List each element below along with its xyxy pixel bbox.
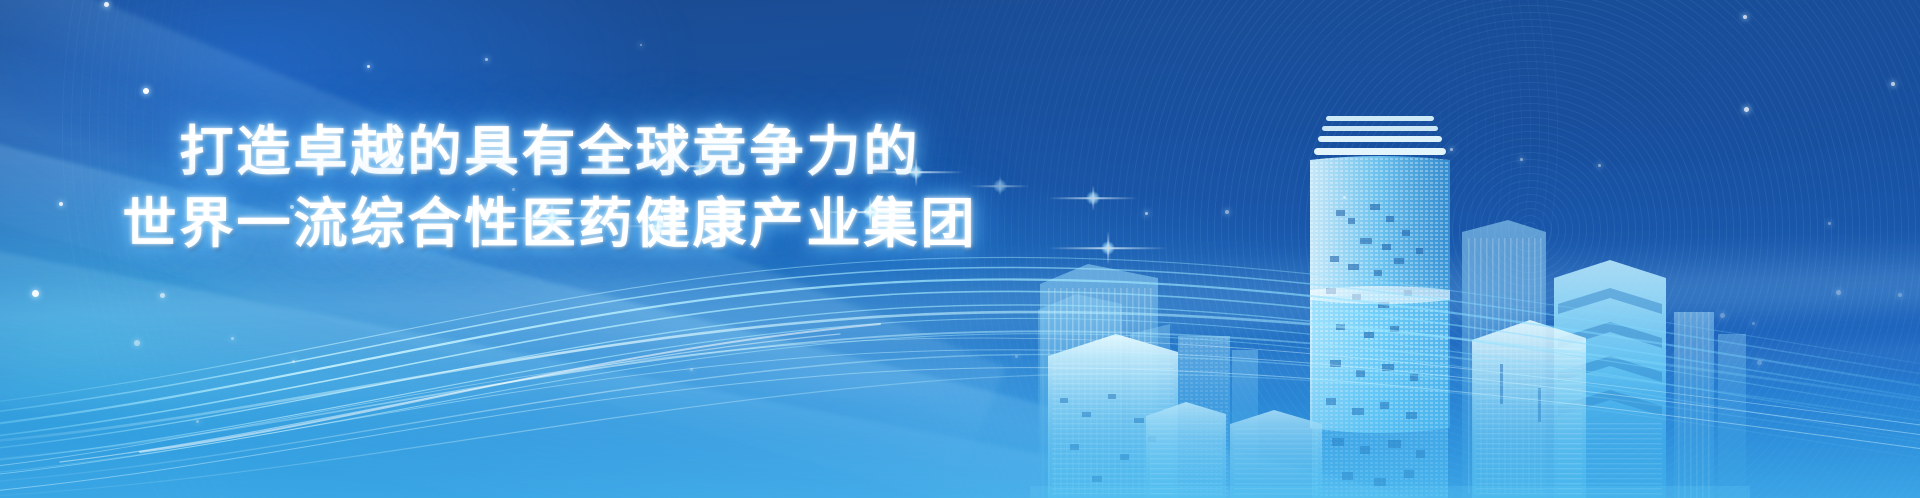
headline-line-2: 世界一流综合性医药健康产业集团	[0, 190, 1100, 256]
star-particle	[231, 337, 234, 340]
star-particle	[104, 2, 109, 7]
star-particle	[134, 340, 140, 346]
star-particle	[1598, 164, 1601, 167]
star-particle	[160, 293, 165, 298]
star-particle	[143, 88, 149, 94]
star-particle	[292, 360, 295, 363]
star-particle	[196, 420, 199, 423]
star-particle	[1744, 107, 1749, 112]
star-particle	[690, 368, 693, 371]
star-particle	[485, 58, 488, 61]
star-particle	[1450, 148, 1453, 151]
star-particle	[1752, 322, 1755, 325]
star-particle	[32, 290, 39, 297]
star-particle	[1225, 210, 1229, 214]
star-particle	[1757, 360, 1762, 365]
star-particle	[1520, 158, 1523, 161]
star-particle	[1720, 313, 1725, 318]
hero-banner: 打造卓越的具有全球竞争力的 世界一流综合性医药健康产业集团	[0, 0, 1920, 498]
star-particle	[1891, 82, 1895, 86]
star-particle	[1743, 15, 1747, 19]
star-particle	[1898, 293, 1902, 297]
star-particle	[1145, 212, 1148, 215]
star-particle	[640, 44, 642, 46]
headline-block: 打造卓越的具有全球竞争力的 世界一流综合性医药健康产业集团	[0, 118, 1100, 256]
star-particle	[1343, 196, 1346, 199]
star-particle	[1828, 222, 1831, 225]
headline-line-1: 打造卓越的具有全球竞争力的	[0, 118, 1100, 184]
star-particle	[367, 65, 370, 68]
star-particle	[1836, 290, 1841, 295]
star-particle	[1015, 355, 1018, 358]
